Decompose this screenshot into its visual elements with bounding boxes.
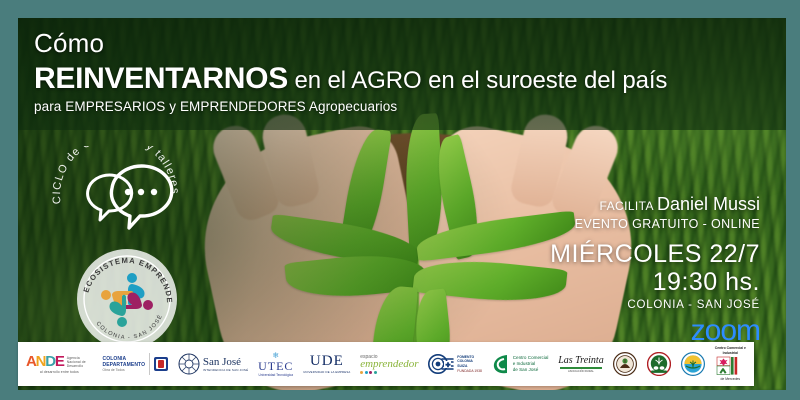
ciclo-de-charlas-logo: CICLO de CHARLAS y talleres bbox=[48, 146, 188, 256]
sponsor-logo-fomento-colonia-suiza: FOMENTO COLONIA SUIZA FUNDADA 1938 bbox=[428, 344, 482, 384]
sponsor-logo-espacio-emprendedor: espacio emprendedor bbox=[360, 344, 418, 384]
facilitator-line: FACILITA Daniel Mussi bbox=[550, 194, 760, 215]
ande-subtitle: al desarrollo entre todos bbox=[40, 370, 79, 374]
sponsor-logo-colonia: COLONIA DEPARTAMENTO Obra de Todos bbox=[103, 344, 169, 384]
fomento-swiss-cross-icon bbox=[428, 353, 454, 375]
san-jose-sun-icon bbox=[178, 353, 200, 375]
sponsor-logo-badge-1 bbox=[613, 344, 637, 384]
event-location: COLONIA - SAN JOSÉ bbox=[550, 299, 760, 311]
cci-mercedes-line-2: Industrial bbox=[723, 351, 738, 355]
espacio-dots bbox=[360, 371, 377, 374]
sociedad-agropecuaria-badge-icon bbox=[613, 352, 637, 376]
sponsor-logo-las-treinta: Las Treinta ASOCIACIÓN RURAL bbox=[558, 344, 603, 384]
san-jose-subtitle: INTENDENCIA DE SAN JOSÉ bbox=[203, 368, 248, 372]
sponsor-logo-cci-san-jose: Centro Comercial e Industrial de San Jos… bbox=[492, 344, 549, 384]
sponsor-logo-utec: ❄ UTEC Universidad Tecnológica bbox=[258, 344, 293, 384]
colonia-divider bbox=[149, 353, 150, 375]
cci-mercedes-line-3: de Mercedes bbox=[721, 377, 741, 381]
sponsor-logo-san-jose: San José INTENDENCIA DE SAN JOSÉ bbox=[178, 344, 248, 384]
colonia-crest-icon bbox=[154, 357, 168, 371]
ude-wordmark: UDE bbox=[310, 354, 344, 369]
ande-wordmark: ANDE bbox=[26, 354, 64, 369]
ande-tagline: Agencia Nacional de Desarrollo bbox=[67, 356, 93, 368]
background-photo: Cómo REINVENTARNOS en el AGRO en el suro… bbox=[18, 18, 786, 390]
las-treinta-wordmark: Las Treinta bbox=[558, 356, 603, 366]
colonia-line-3: Obra de Todos bbox=[103, 368, 125, 372]
headline-line-3: para EMPRESARIOS y EMPRENDEDORES Agropec… bbox=[34, 99, 667, 114]
utec-subtitle: Universidad Tecnológica bbox=[259, 373, 294, 377]
event-time: 19:30 hs. bbox=[550, 268, 760, 296]
ude-subtitle: UNIVERSIDAD DE LA EMPRESA bbox=[303, 370, 350, 374]
las-treinta-subtitle: ASOCIACIÓN RURAL bbox=[568, 370, 594, 373]
sponsor-logo-badge-2 bbox=[647, 344, 671, 384]
headline-line-1: Cómo bbox=[34, 30, 667, 57]
headline-keyword: REINVENTARNOS bbox=[34, 62, 288, 95]
headline-block: Cómo REINVENTARNOS en el AGRO en el suro… bbox=[34, 30, 667, 114]
event-date: MIÉRCOLES 22/7 bbox=[550, 240, 760, 268]
sponsor-logo-cci-mercedes: Centro Comercial e Industrial de Mercede… bbox=[715, 344, 746, 384]
espacio-line-2: emprendedor bbox=[360, 359, 418, 370]
event-type: EVENTO GRATUITO - ONLINE bbox=[550, 217, 760, 231]
headline-line-2-rest: en el AGRO en el suroeste del país bbox=[288, 67, 667, 94]
fomento-line-3: SUIZA bbox=[457, 364, 467, 368]
asociacion-rural-badge-icon bbox=[647, 352, 671, 376]
san-jose-wordmark: San José bbox=[203, 357, 241, 368]
speech-bubble-large bbox=[111, 166, 171, 228]
event-info-block: FACILITA Daniel Mussi EVENTO GRATUITO - … bbox=[550, 194, 760, 346]
sponsor-logo-ande: ANDE Agencia Nacional de Desarrollo al d… bbox=[26, 344, 93, 384]
las-treinta-rule bbox=[560, 367, 602, 369]
cci-mercedes-emblem-icon bbox=[716, 356, 744, 376]
fomento-line-4: FUNDADA 1938 bbox=[457, 369, 482, 373]
facilitator-name: Daniel Mussi bbox=[657, 194, 760, 214]
cci-san-jose-leaf-icon bbox=[492, 353, 510, 375]
utec-wordmark: UTEC bbox=[258, 360, 293, 372]
sponsor-logo-ude: UDE UNIVERSIDAD DE LA EMPRESA bbox=[303, 344, 350, 384]
ecosistema-emprendedor-badge: ECOSISTEMA EMPRENDEDOR COLONIA - SAN JOS… bbox=[75, 247, 179, 351]
cci-sj-line-3: de San José bbox=[513, 367, 539, 373]
cooperativa-agraria-badge-icon bbox=[681, 352, 705, 376]
dot-2 bbox=[138, 189, 144, 195]
event-banner: Cómo REINVENTARNOS en el AGRO en el suro… bbox=[0, 0, 800, 400]
sponsor-logo-strip: ANDE Agencia Nacional de Desarrollo al d… bbox=[18, 342, 754, 386]
facilita-label: FACILITA bbox=[600, 199, 654, 213]
sponsor-logo-badge-3 bbox=[681, 344, 705, 384]
dot-1 bbox=[125, 189, 131, 195]
headline-line-2: REINVENTARNOS en el AGRO en el suroeste … bbox=[34, 62, 667, 96]
dot-3 bbox=[151, 189, 157, 195]
